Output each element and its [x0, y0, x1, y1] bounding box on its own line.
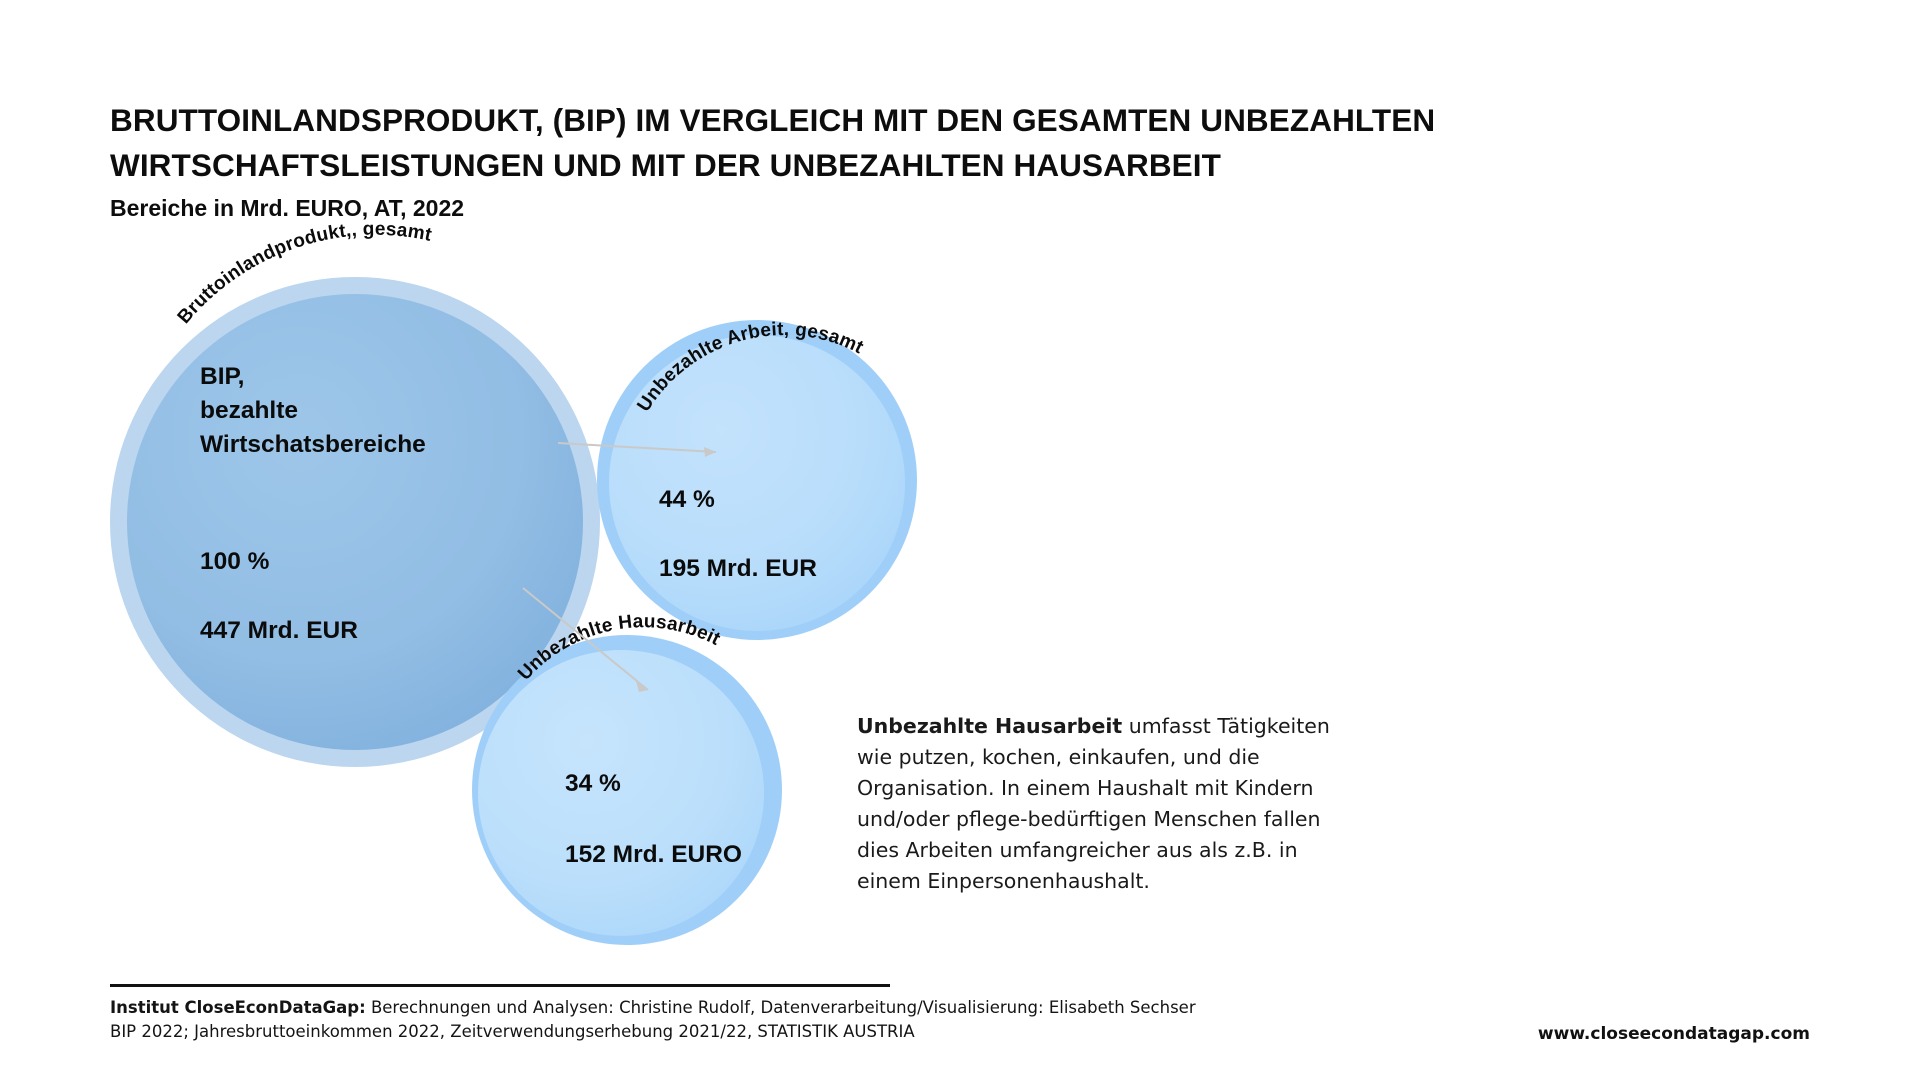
- bubble-ua-amount: 195 Mrd. EUR: [659, 552, 817, 587]
- footer-website[interactable]: www.closeecondatagap.com: [1538, 1024, 1810, 1044]
- bubble-uh-amount: 152 Mrd. EURO: [565, 837, 742, 873]
- description-block: Unbezahlte Hausarbeit umfasst Tätigkeite…: [857, 711, 1357, 898]
- footer-divider: [110, 984, 890, 987]
- page-subtitle: Bereiche in Mrd. EURO, AT, 2022: [110, 195, 1810, 223]
- bubble-uh-percent: 34 %: [565, 766, 742, 802]
- bubble-bip-inner-name: BIP, bezahlte Wirtschatsbereiche: [200, 360, 426, 461]
- footer-data-row: BIP 2022; Jahresbruttoeinkommen 2022, Ze…: [110, 1020, 1196, 1044]
- bubble-ua-percent: 44 %: [659, 483, 817, 518]
- description-lead: Unbezahlte Hausarbeit: [857, 714, 1122, 738]
- title-line-2: WIRTSCHAFTSLEISTUNGEN UND MIT DER UNBEZA…: [110, 143, 1810, 188]
- bubble-uh-arc-label: Unbezahlte Hausarbeit: [514, 611, 724, 684]
- bubble-ua-arc-textpath: Unbezahlte Arbeit, gesamt: [633, 319, 867, 415]
- footer-source-text: Berechnungen und Analysen: Christine Rud…: [366, 998, 1196, 1017]
- bubble-ua-values: 44 % 195 Mrd. EUR: [659, 448, 817, 622]
- bubble-bip-arc-label: Bruttoinlandprodukt,, gesamt: [174, 219, 434, 328]
- bubble-bip-amount: 447 Mrd. EUR: [200, 614, 358, 649]
- footer-source: Institut CloseEconDataGap: Berechnungen …: [110, 996, 1196, 1044]
- connector-bip-to-uh: [523, 588, 648, 692]
- bubble-ua-arc-label: Unbezahlte Arbeit, gesamt: [633, 319, 867, 415]
- bubble-bip-arc-textpath: Bruttoinlandprodukt,, gesamt: [174, 219, 434, 328]
- footer-source-label: Institut CloseEconDataGap:: [110, 998, 366, 1017]
- bubble-uh-arc-textpath: Unbezahlte Hausarbeit: [514, 611, 724, 684]
- footer-source-row: Institut CloseEconDataGap: Berechnungen …: [110, 996, 1196, 1020]
- page-title: BRUTTOINLANDSPRODUKT, (BIP) IM VERGLEICH…: [110, 98, 1810, 187]
- bubble-bip-values: 100 % 447 Mrd. EUR: [200, 510, 358, 684]
- bubble-uh-values: 34 % 152 Mrd. EURO: [565, 730, 742, 909]
- title-line-1: BRUTTOINLANDSPRODUKT, (BIP) IM VERGLEICH…: [110, 102, 1435, 138]
- bubble-bip-percent: 100 %: [200, 545, 358, 580]
- description-body: umfasst Tätigkeiten wie putzen, kochen, …: [857, 714, 1330, 894]
- page-header: BRUTTOINLANDSPRODUKT, (BIP) IM VERGLEICH…: [110, 98, 1810, 223]
- bubble-bip[interactable]: Bruttoinlandprodukt,, gesamt: [110, 219, 600, 767]
